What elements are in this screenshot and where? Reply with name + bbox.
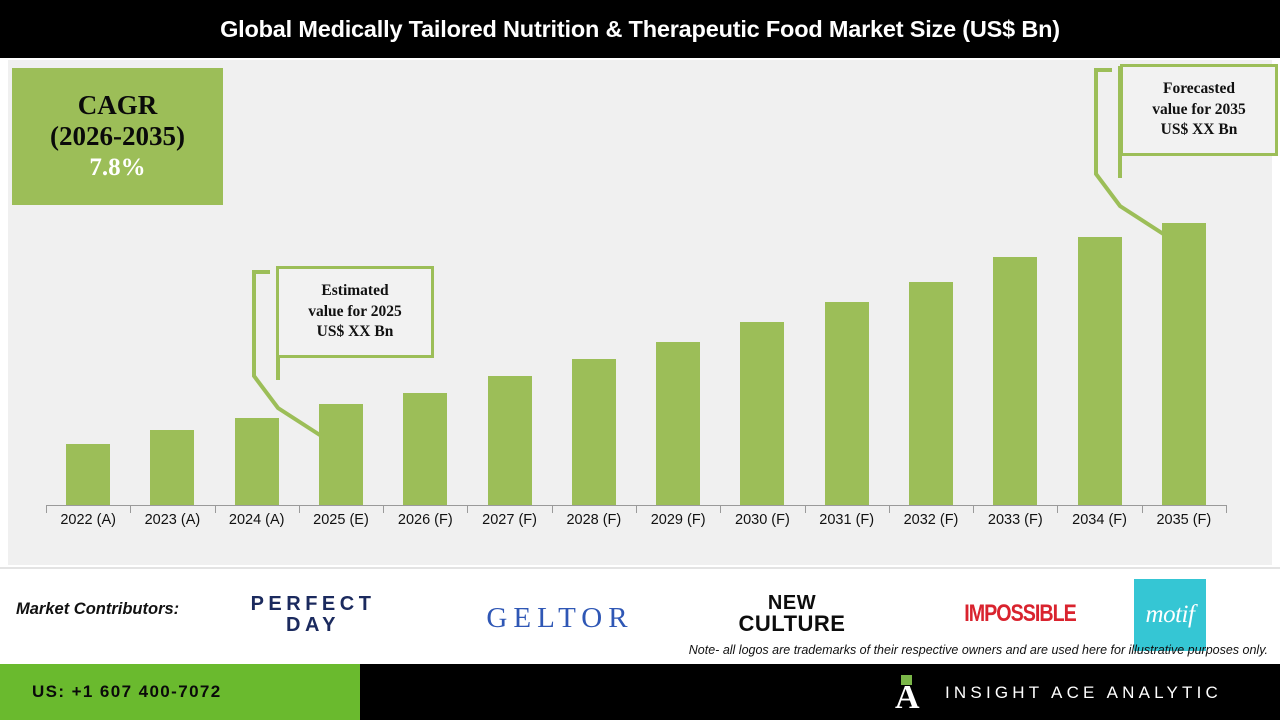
bar-2025-e- — [319, 404, 363, 506]
bar-2034-f- — [1078, 237, 1122, 506]
page-title: Global Medically Tailored Nutrition & Th… — [220, 16, 1060, 43]
x-axis-label: 2022 (A) — [46, 512, 130, 528]
perfect-day-logo-line1: PERFECT — [243, 594, 383, 615]
motif-logo: motif — [1134, 579, 1206, 651]
infographic-page: Global Medically Tailored Nutrition & Th… — [0, 0, 1280, 720]
perfect-day-logo-line2: DAY — [243, 615, 383, 636]
bar-2030-f- — [740, 322, 784, 506]
estimated-callout-line1: Estimated — [321, 281, 388, 301]
geltor-logo: GELTOR — [462, 602, 658, 635]
forecasted-callout-line2: value for 2035 — [1152, 100, 1246, 120]
footer-phone-number[interactable]: US: +1 607 400-7072 — [32, 682, 222, 702]
bar-2023-a- — [150, 430, 194, 506]
bar-series — [46, 60, 1226, 506]
contributors-divider — [0, 567, 1280, 569]
logo-letter: A — [895, 684, 929, 711]
x-axis-label: 2029 (F) — [636, 512, 720, 528]
footer-bar: US: +1 607 400-7072 A INSIGHT ACE ANALYT… — [0, 664, 1280, 720]
bar-2035-f- — [1162, 223, 1206, 506]
x-axis-label: 2031 (F) — [805, 512, 889, 528]
x-axis-label: 2030 (F) — [720, 512, 804, 528]
new-culture-logo: NEW CULTURE — [722, 593, 862, 636]
new-culture-logo-line2: CULTURE — [722, 613, 862, 635]
brand-lockup: A INSIGHT ACE ANALYTIC — [895, 675, 1222, 711]
insight-ace-logo-icon: A — [895, 675, 929, 711]
motif-logo-text: motif — [1146, 601, 1195, 629]
x-axis-label: 2028 (F) — [552, 512, 636, 528]
brand-name: INSIGHT ACE ANALYTIC — [945, 683, 1222, 703]
bar-2022-a- — [66, 444, 110, 506]
chart-panel: CAGR (2026-2035) 7.8% 2022 (A)2023 (A)20… — [8, 60, 1272, 565]
forecasted-callout-line3: US$ XX Bn — [1161, 120, 1238, 140]
perfect-day-logo: PERFECT DAY — [243, 594, 383, 636]
bar-2024-a- — [235, 418, 279, 506]
impossible-logo: IMPOSSIBLE — [942, 600, 1098, 628]
x-axis-tick — [1226, 505, 1227, 513]
bar-2027-f- — [488, 376, 532, 506]
trademark-note: Note- all logos are trademarks of their … — [689, 643, 1268, 657]
bar-2029-f- — [656, 342, 700, 506]
bar-2028-f- — [572, 359, 616, 506]
x-axis-labels: 2022 (A)2023 (A)2024 (A)2025 (E)2026 (F)… — [46, 512, 1226, 552]
estimated-value-callout: Estimated value for 2025 US$ XX Bn — [276, 266, 434, 358]
x-axis-label: 2034 (F) — [1057, 512, 1141, 528]
bar-2031-f- — [825, 302, 869, 506]
bar-chart-plot: 2022 (A)2023 (A)2024 (A)2025 (E)2026 (F)… — [8, 60, 1272, 565]
estimated-callout-line2: value for 2025 — [308, 302, 402, 322]
x-axis-label: 2026 (F) — [383, 512, 467, 528]
bar-2032-f- — [909, 282, 953, 506]
market-contributors-label: Market Contributors: — [16, 600, 179, 619]
estimated-callout-line3: US$ XX Bn — [317, 322, 394, 342]
x-axis-label: 2033 (F) — [973, 512, 1057, 528]
forecasted-callout-line1: Forecasted — [1163, 79, 1235, 99]
forecasted-value-callout: Forecasted value for 2035 US$ XX Bn — [1120, 64, 1278, 156]
bar-2026-f- — [403, 393, 447, 506]
title-bar: Global Medically Tailored Nutrition & Th… — [0, 0, 1280, 58]
market-contributors-strip: Market Contributors: PERFECT DAY GELTOR … — [0, 567, 1280, 662]
x-axis-label: 2027 (F) — [467, 512, 551, 528]
bar-2033-f- — [993, 257, 1037, 506]
x-axis-label: 2032 (F) — [889, 512, 973, 528]
new-culture-logo-line1: NEW — [722, 593, 862, 613]
x-axis-label: 2025 (E) — [299, 512, 383, 528]
x-axis-label: 2023 (A) — [130, 512, 214, 528]
x-axis-label: 2035 (F) — [1142, 512, 1226, 528]
x-axis-label: 2024 (A) — [215, 512, 299, 528]
